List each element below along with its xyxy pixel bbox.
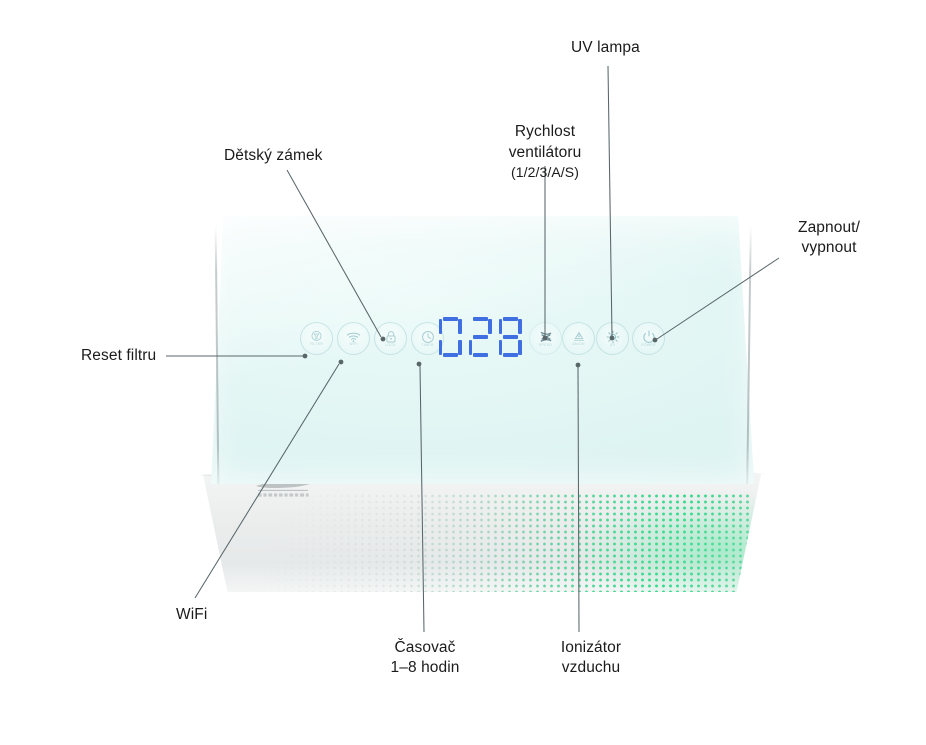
fan-icon bbox=[539, 330, 553, 344]
power-button[interactable]: POWER bbox=[632, 322, 665, 355]
child-lock-button[interactable]: LOCK bbox=[374, 322, 407, 355]
uv-sun-icon bbox=[606, 330, 620, 344]
power-caption: POWER bbox=[641, 344, 656, 348]
air-purifier-device: FILTER WIFI bbox=[196, 216, 748, 596]
digital-display: 028 bbox=[432, 314, 528, 360]
grille-glow bbox=[516, 483, 768, 592]
uv-lamp-button[interactable]: UV bbox=[596, 322, 629, 355]
callout-uv-lamp: UV lampa bbox=[571, 38, 640, 58]
display-digit bbox=[499, 317, 522, 357]
callout-wifi: WiFi bbox=[176, 605, 207, 625]
filter-reset-button[interactable]: FILTER bbox=[300, 322, 333, 355]
control-panel: FILTER WIFI bbox=[196, 216, 748, 484]
callout-timer: Časovač 1–8 hodin bbox=[366, 638, 484, 679]
ionizer-button[interactable]: ANION bbox=[562, 322, 595, 355]
callout-fan-speed: Rychlost ventilátoru (1/2/3/A/S) bbox=[497, 102, 593, 202]
callout-fan-speed-label: Rychlost ventilátoru bbox=[509, 123, 582, 160]
lock-icon bbox=[385, 330, 397, 344]
uv-lamp-caption: UV bbox=[610, 344, 615, 348]
power-icon bbox=[642, 330, 656, 344]
fan-speed-button[interactable]: SPEED bbox=[529, 322, 562, 355]
callout-filter-reset: Reset filtru bbox=[81, 346, 156, 366]
callout-power: Zapnout/ vypnout bbox=[783, 218, 875, 259]
callout-ionizer: Ionizátor vzduchu bbox=[539, 638, 643, 679]
wifi-button[interactable]: WIFI bbox=[337, 322, 370, 355]
child-lock-caption: LOCK bbox=[385, 344, 396, 348]
callout-child-lock: Dětský zámek bbox=[224, 146, 323, 166]
filter-reset-caption: FILTER bbox=[310, 343, 323, 347]
callout-fan-speed-sub: (1/2/3/A/S) bbox=[497, 163, 593, 181]
diagram-canvas: FILTER WIFI bbox=[0, 0, 926, 745]
fan-speed-caption: SPEED bbox=[539, 344, 552, 348]
wifi-icon bbox=[346, 331, 361, 343]
display-digit bbox=[439, 317, 462, 357]
ionizer-caption: ANION bbox=[572, 343, 584, 347]
wifi-caption: WIFI bbox=[349, 343, 357, 347]
